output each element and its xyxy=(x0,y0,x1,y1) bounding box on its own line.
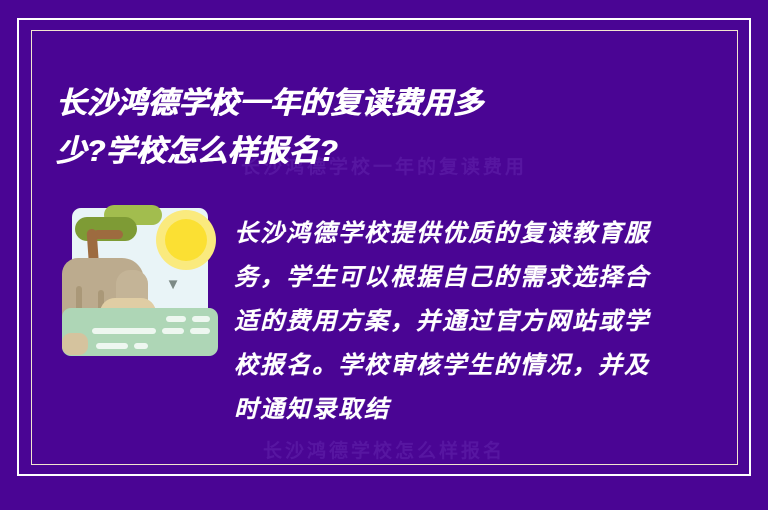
water-ripple xyxy=(166,316,186,322)
sun-icon xyxy=(165,219,207,261)
water-ripple xyxy=(96,343,128,349)
water-ripple xyxy=(92,328,156,334)
article-body-text: 长沙鸿德学校提供优质的复读教育服务，学生可以根据自己的需求选择合适的费用方案，并… xyxy=(234,212,654,470)
tree-branch xyxy=(93,230,123,239)
landscape-illustration: ▼ xyxy=(62,202,218,360)
poster-card: 长沙鸿德学校一年的复读费用 长沙鸿德学校怎么样报名 长沙鸿德学校一年的复读费用多… xyxy=(0,0,768,510)
page-title-line-1: 长沙鸿德学校一年的复读费用多 xyxy=(56,80,676,128)
water-ripple xyxy=(134,343,148,349)
bird-icon: ▼ xyxy=(164,278,182,291)
shore-pebble xyxy=(62,333,88,355)
water-ripple xyxy=(190,328,210,334)
water-ripple xyxy=(162,328,184,334)
page-title: 长沙鸿德学校一年的复读费用多 少?学校怎么样报名? xyxy=(56,80,676,176)
water-ripple xyxy=(192,316,210,322)
page-title-line-2: 少?学校怎么样报名? xyxy=(56,128,676,176)
